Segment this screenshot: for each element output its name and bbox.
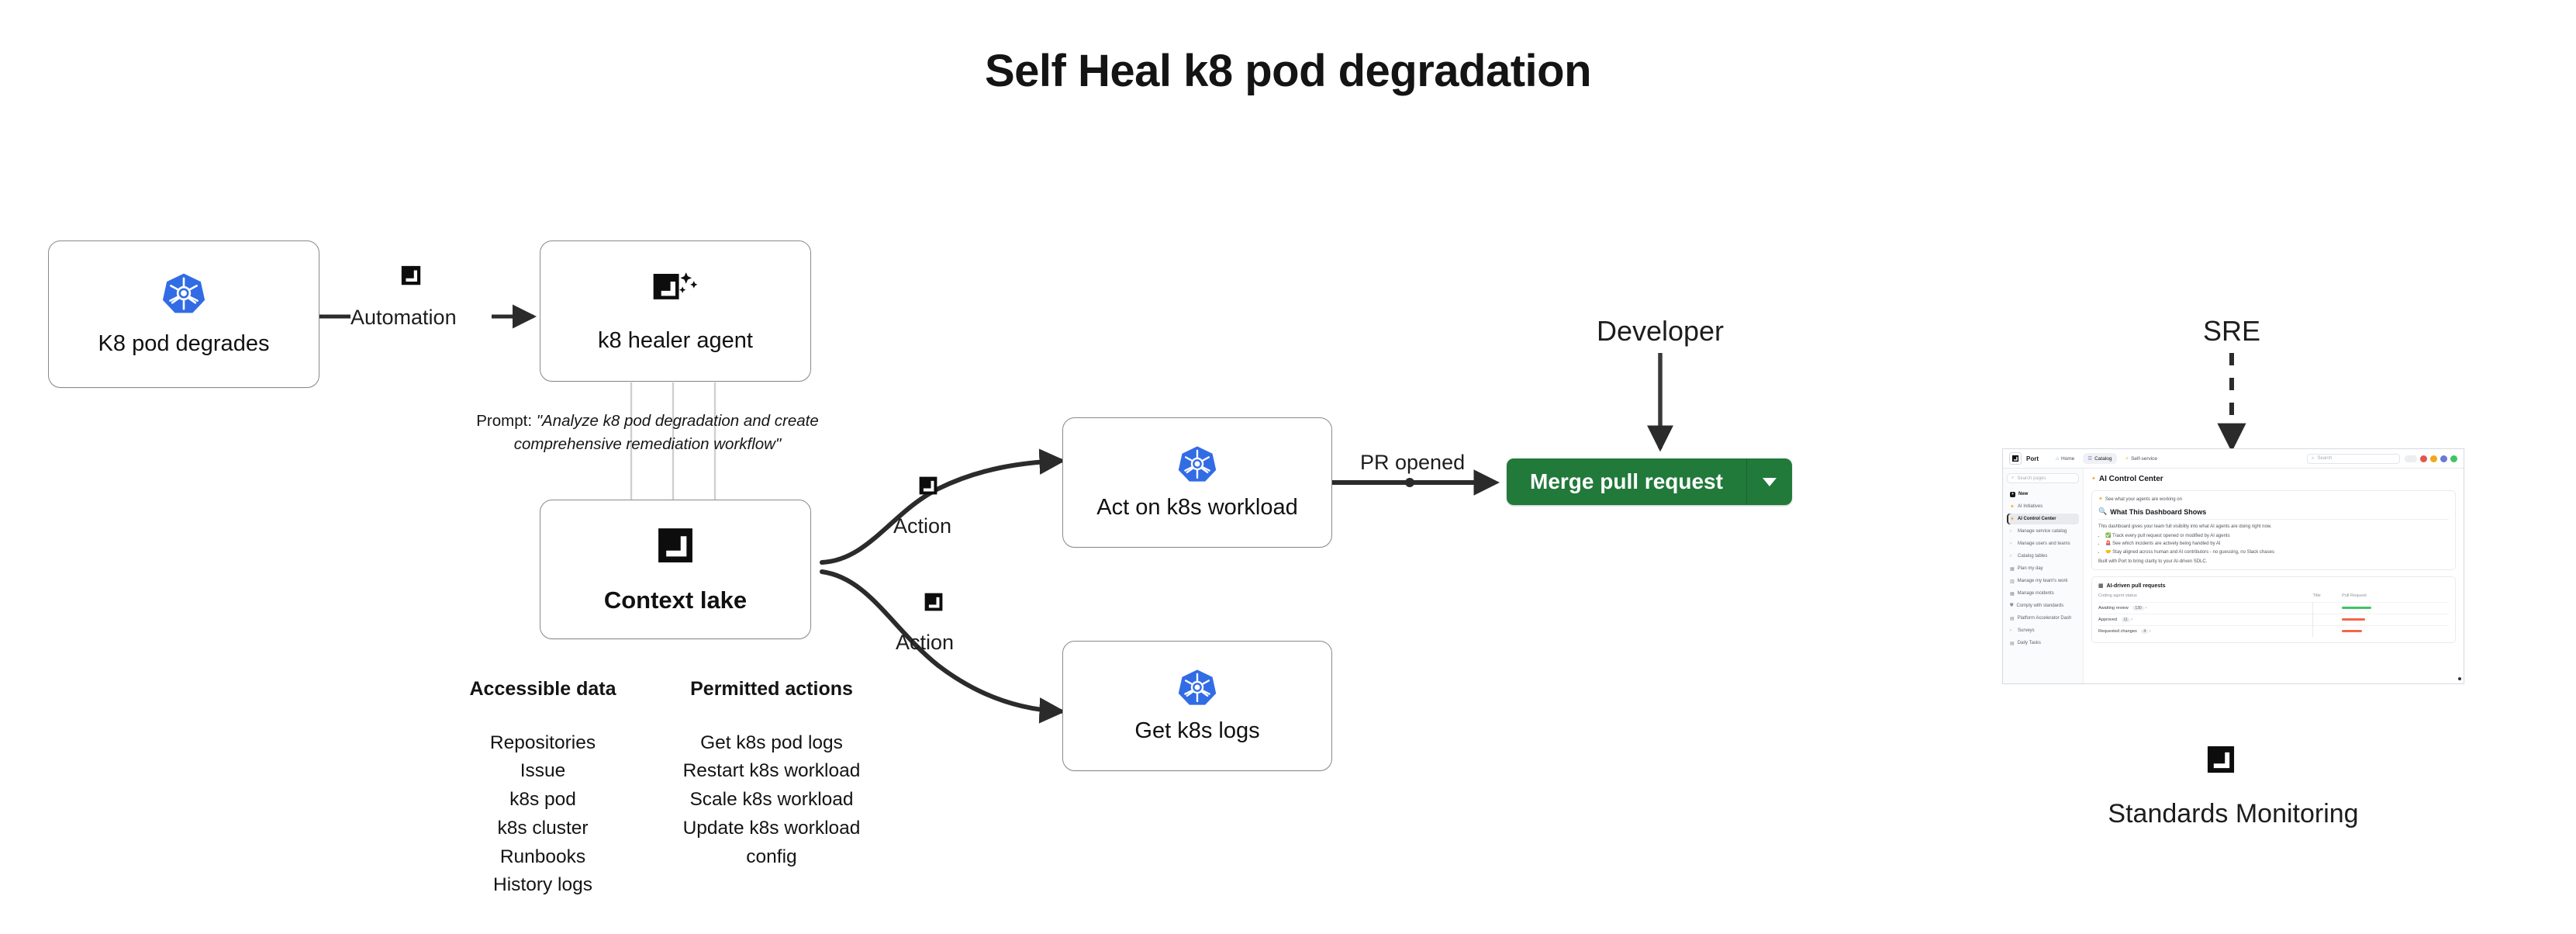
sidebar-item-new[interactable]: + New: [2007, 489, 2079, 500]
sidebar-item-ai-initiatives[interactable]: ✦ AI Initiatives: [2007, 501, 2079, 512]
nav-home[interactable]: ⌂ Home: [2051, 454, 2079, 464]
brand-name: Port: [2026, 455, 2039, 462]
merge-dropdown-button[interactable]: [1747, 458, 1792, 505]
sidebar-item-label: Comply with standards: [2017, 604, 2064, 608]
search-input[interactable]: ⌕ Search: [2307, 454, 2400, 464]
title-cell: [2312, 614, 2342, 626]
section-heading: 🔍 What This Dashboard Shows: [2098, 507, 2449, 520]
list-item: History logs: [465, 871, 620, 900]
sidebar-item-label: Plan my day: [2018, 566, 2043, 571]
nav-label: Self-service: [2131, 456, 2157, 462]
status-label: Approved: [2098, 617, 2117, 622]
magnifier-icon: 🔍: [2098, 507, 2107, 516]
sre-label: SRE: [2139, 315, 2325, 348]
bullet-text: See which incidents are actively being h…: [2112, 541, 2220, 546]
sparkle-icon: ✦: [2010, 517, 2015, 522]
pr-table: Coding agent status Title Pull Request A…: [2098, 593, 2449, 637]
intro-text: This dashboard gives your team full visi…: [2098, 524, 2449, 530]
merge-pull-request-group[interactable]: Merge pull request: [1507, 458, 1792, 505]
dashboard-page-title: ✦ AI Control Center: [2091, 475, 2456, 483]
list-heading: Accessible data: [465, 675, 620, 704]
status-label: Requested changes: [2098, 629, 2137, 634]
sidebar-item-label: AI Initiatives: [2018, 504, 2042, 509]
chevron-right-icon[interactable]: ›: [2131, 617, 2132, 622]
bolt-icon: ⚡: [2125, 455, 2129, 462]
bullet-list: ✅ Track every pull request opened or mod…: [2098, 534, 2449, 555]
sidebar-item-label: Manage incidents: [2018, 591, 2054, 596]
pr-cell: [2342, 603, 2449, 614]
sidebar-item-label: AI Control Center: [2018, 517, 2056, 521]
avatar[interactable]: [2420, 455, 2427, 462]
column-header[interactable]: Pull Request: [2342, 593, 2449, 603]
list-item: Repositories: [465, 729, 620, 758]
catalog-icon: ☰: [2087, 455, 2092, 462]
dashboard-screenshot[interactable]: Port ⌂ Home ☰ Catalog ⚡ Self-service ⌕ S…: [2002, 448, 2464, 684]
sidebar-item-catalog-tables[interactable]: › Catalog tables: [2007, 551, 2079, 562]
sidebar-item-ai-control-center[interactable]: ✦ AI Control Center: [2007, 514, 2079, 524]
sparkle-icon: ✦: [2091, 476, 2096, 482]
prompt-caption: Prompt: "Analyze k8 pod degradation and …: [465, 410, 830, 455]
prompt-text: "Analyze k8 pod degradation and create c…: [514, 412, 819, 453]
status-cell: Approved 11 ›: [2098, 614, 2312, 626]
page-title-text: AI Control Center: [2099, 475, 2163, 483]
sidebar-item-manage-service-catalog[interactable]: › Manage service catalog: [2007, 526, 2079, 537]
port-logo-icon: [2009, 452, 2022, 465]
chevron-right-icon: ›: [2010, 628, 2015, 633]
table-title-text: AI-driven pull requests: [2107, 583, 2166, 589]
edge-label-action-bottom: Action: [896, 631, 954, 655]
grid-icon: ▦: [2010, 591, 2015, 597]
grid-icon: ▤: [2010, 616, 2015, 621]
sidebar-item-label: Manage my team's work: [2018, 579, 2068, 583]
count-badge: 130: [2132, 606, 2143, 611]
port-icon: [399, 264, 423, 291]
table-title: ▦ AI-driven pull requests: [2098, 583, 2449, 589]
shield-icon: ⛊: [2010, 604, 2014, 609]
status-cell: Awaiting review 130 ›: [2098, 603, 2312, 614]
dashboard-topbar: Port ⌂ Home ☰ Catalog ⚡ Self-service ⌕ S…: [2003, 449, 2464, 469]
check-icon: ✅: [2105, 534, 2111, 538]
home-icon: ⌂: [2056, 456, 2059, 462]
table-row[interactable]: Requested changes 4 ›: [2098, 626, 2449, 638]
node-label: k8 healer agent: [598, 329, 753, 354]
sidebar-item-manage-my-teams-work[interactable]: ▥ Manage my team's work: [2007, 576, 2079, 586]
sidebar-item-label: Surveys: [2018, 628, 2035, 633]
nav-self-service[interactable]: ⚡ Self-service: [2121, 453, 2163, 464]
chevron-right-icon: ›: [2010, 529, 2015, 534]
dashboard-overview-card: ✦ See what your agents are working on 🔍 …: [2091, 490, 2456, 570]
pr-cell: [2342, 626, 2449, 638]
node-k8-healer-agent[interactable]: k8 healer agent: [540, 240, 811, 382]
chevron-right-icon: ›: [2010, 541, 2015, 546]
search-icon: ⌕: [2011, 476, 2014, 481]
chevron-right-icon: ›: [2010, 554, 2015, 559]
chevron-right-icon[interactable]: ›: [2145, 606, 2146, 611]
sidebar-item-label: New: [2018, 492, 2028, 496]
bullet-text: Stay aligned across human and AI contrib…: [2112, 550, 2274, 555]
sidebar-item-platform-accelerator-dash[interactable]: ▤ Platform Accelerator Dash: [2007, 613, 2079, 624]
chevron-down-icon: [1763, 478, 1777, 486]
list-item: ✅ Track every pull request opened or mod…: [2105, 534, 2449, 540]
list-heading: Permitted actions: [675, 675, 868, 704]
sidebar-item-label: Platform Accelerator Dash: [2018, 616, 2072, 621]
search-placeholder: Search pages: [2017, 476, 2046, 481]
list-item: Update k8s workload config: [675, 815, 868, 872]
node-context-lake[interactable]: Context lake: [540, 500, 811, 639]
section-heading-text: What This Dashboard Shows: [2110, 508, 2206, 516]
kubernetes-icon: [1178, 445, 1217, 483]
port-sparkle-icon: [651, 269, 700, 315]
node-get-k8s-logs[interactable]: Get k8s logs: [1062, 641, 1332, 771]
kubernetes-icon: [162, 272, 205, 315]
edge-label-automation: Automation: [350, 306, 457, 330]
nav-label: Catalog: [2094, 456, 2112, 462]
list-item: 🤝 Stay aligned across human and AI contr…: [2105, 550, 2449, 556]
sparkle-icon: ✦: [2010, 504, 2015, 510]
status-cell: Requested changes 4 ›: [2098, 626, 2312, 638]
list-item: 🚨 See which incidents are actively being…: [2105, 541, 2449, 548]
table-icon: ▦: [2098, 583, 2104, 589]
list-item: k8s pod: [465, 786, 620, 815]
edge-label-action-top: Action: [893, 514, 951, 538]
sidebar-item-comply-with-standards[interactable]: ⛊ Comply with standards: [2007, 600, 2079, 611]
list-item: k8s cluster: [465, 815, 620, 843]
action-pill[interactable]: [2405, 455, 2417, 462]
search-icon: ⌕: [2312, 456, 2314, 462]
title-cell: [2312, 603, 2342, 614]
alert-icon: 🚨: [2105, 541, 2111, 546]
sparkle-icon: ✦: [2098, 496, 2103, 502]
dashboard-main: ✦ AI Control Center ✦ See what your agen…: [2084, 469, 2464, 683]
sidebar-item-surveys[interactable]: › Surveys: [2007, 625, 2079, 636]
sidebar-item-plan-my-day[interactable]: ▦ Plan my day: [2007, 563, 2079, 574]
sidebar-item-label: Manage users and teams: [2018, 541, 2070, 546]
sidebar-search-input[interactable]: ⌕ Search pages: [2007, 473, 2079, 483]
status-label: Awaiting review: [2098, 606, 2129, 611]
port-icon: [923, 591, 944, 617]
dashboard-pr-table-card: ▦ AI-driven pull requests Coding agent s…: [2091, 576, 2456, 643]
sidebar-item-manage-incidents[interactable]: ▦ Manage incidents: [2007, 588, 2079, 599]
list-item: Get k8s pod logs: [675, 729, 868, 758]
count-badge: 4: [2141, 629, 2148, 634]
handshake-icon: 🤝: [2105, 550, 2111, 555]
sidebar-item-daily-tasks[interactable]: ▤ Daily Tasks: [2007, 638, 2079, 649]
port-icon: [917, 475, 939, 500]
chart-icon: ▥: [2010, 579, 2015, 584]
node-label: K8 pod degrades: [98, 332, 270, 357]
sidebar-item-label: Catalog tables: [2018, 554, 2047, 559]
column-header[interactable]: Coding agent status: [2098, 593, 2312, 603]
node-label: Context lake: [604, 587, 747, 614]
plus-square-icon: +: [2010, 492, 2015, 497]
list-item: Scale k8s workload: [675, 786, 868, 815]
table-row[interactable]: Approved 11 ›: [2098, 614, 2449, 626]
avatar[interactable]: [2430, 455, 2437, 462]
node-k8-pod-degrades[interactable]: K8 pod degrades: [48, 240, 319, 388]
port-icon: [2205, 743, 2237, 780]
list-item: Restart k8s workload: [675, 757, 868, 786]
table-row[interactable]: Awaiting review 130 ›: [2098, 603, 2449, 614]
kubernetes-icon: [1178, 668, 1217, 707]
search-placeholder: Search: [2317, 456, 2332, 461]
nav-catalog[interactable]: ☰ Catalog: [2083, 453, 2116, 464]
grid-icon: ▤: [2010, 641, 2015, 646]
edge-label-pr-opened: PR opened: [1360, 451, 1465, 475]
standards-monitoring-label: Standards Monitoring: [2002, 799, 2464, 829]
developer-label: Developer: [1567, 315, 1753, 348]
chevron-right-icon[interactable]: ›: [2150, 629, 2151, 634]
pr-cell: [2342, 614, 2449, 626]
nav-label: Home: [2061, 456, 2074, 462]
bullet-text: Track every pull request opened or modif…: [2112, 534, 2230, 538]
count-badge: 11: [2122, 617, 2130, 622]
merge-pull-request-button[interactable]: Merge pull request: [1507, 458, 1747, 505]
footer-text: Built with Port to bring clarity to your…: [2098, 559, 2449, 564]
avatar[interactable]: [2450, 455, 2457, 462]
sidebar-item-label: Manage service catalog: [2018, 529, 2067, 534]
node-act-on-k8s-workload[interactable]: Act on k8s workload: [1062, 417, 1332, 548]
card-subtitle: ✦ See what your agents are working on: [2098, 496, 2449, 502]
column-header[interactable]: Title: [2312, 593, 2342, 603]
scroll-indicator[interactable]: [2458, 677, 2461, 680]
list-item: Issue: [465, 757, 620, 786]
list-item: Runbooks: [465, 843, 620, 872]
title-cell: [2312, 626, 2342, 638]
accessible-data-list: Accessible data Repositories Issue k8s p…: [465, 675, 620, 900]
card-subtitle-text: See what your agents are working on: [2105, 497, 2182, 502]
topbar-actions: [2405, 455, 2457, 462]
prompt-prefix: Prompt:: [476, 412, 532, 430]
table-header-row: Coding agent status Title Pull Request: [2098, 593, 2449, 603]
node-label: Get k8s logs: [1134, 719, 1259, 744]
port-icon: [654, 524, 696, 570]
sidebar-item-label: Daily Tasks: [2018, 641, 2041, 645]
dashboard-sidebar: ⌕ Search pages + New ✦ AI Initiatives ✦ …: [2003, 469, 2084, 683]
node-label: Act on k8s workload: [1096, 496, 1298, 521]
grid-icon: ▦: [2010, 566, 2015, 572]
permitted-actions-list: Permitted actions Get k8s pod logs Resta…: [675, 675, 868, 871]
avatar[interactable]: [2440, 455, 2447, 462]
sidebar-item-manage-users-and-teams[interactable]: › Manage users and teams: [2007, 538, 2079, 549]
